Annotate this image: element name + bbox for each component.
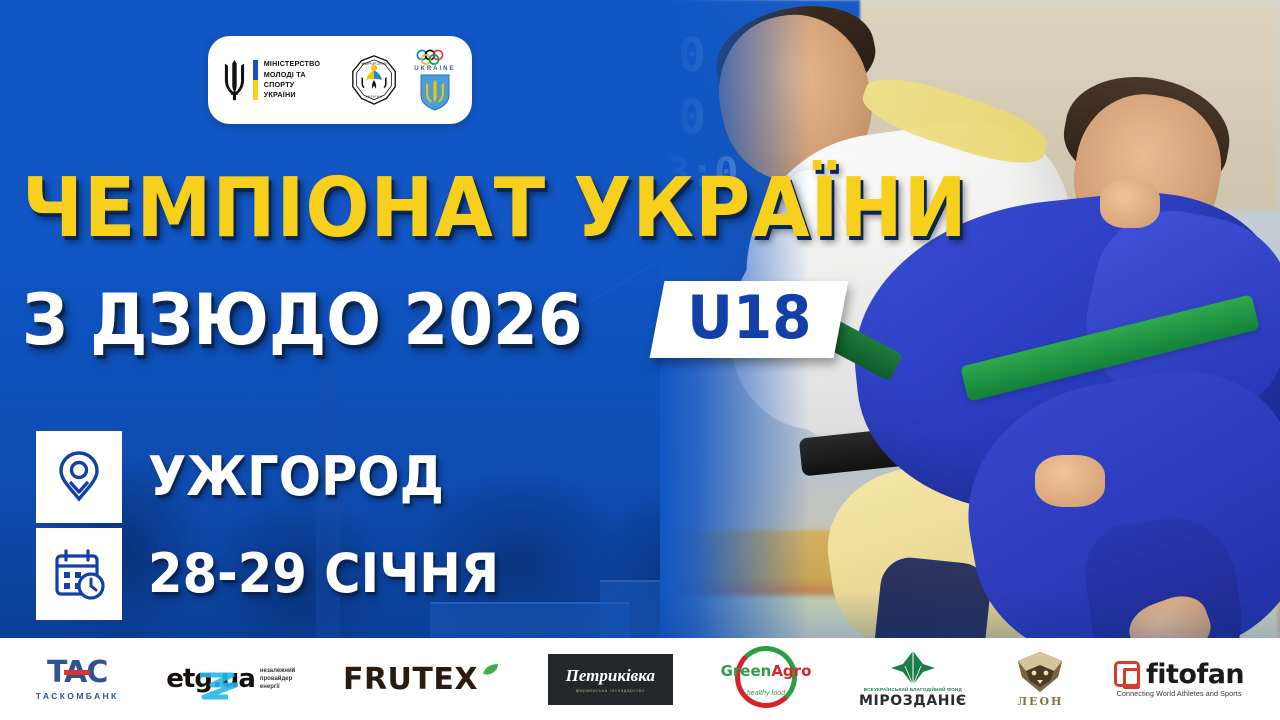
sponsor-petrykivka[interactable]: Петриківка фермерська господарство	[548, 649, 673, 709]
greenagro-wordmark: GreenAgro	[721, 662, 812, 680]
sponsor-leon[interactable]: ЛЕОН	[1014, 649, 1066, 709]
fitofan-wordmark: fitofan	[1146, 661, 1244, 688]
date-row: 28-29 СІЧНЯ	[36, 525, 530, 622]
sponsor-fitofan[interactable]: fitofan Connecting World Athletes and Sp…	[1114, 649, 1244, 709]
date-label: 28-29 СІЧНЯ	[148, 547, 499, 601]
age-category-badge: U18	[650, 281, 849, 358]
location-label: УЖГОРОД	[148, 450, 444, 504]
calendar-clock-icon	[51, 546, 107, 602]
page-title: ЧЕМПІОНАТ УКРАЇНИ	[22, 168, 968, 250]
leon-wordmark: ЛЕОН	[1017, 695, 1063, 708]
location-pin-icon	[51, 449, 107, 505]
ukraine-trident-icon	[222, 59, 247, 101]
federation-text-top: ФЕДЕРАЦІЯ ДЗЮДО	[361, 62, 387, 66]
sponsor-etg-ua[interactable]: etg.ua незалежний провайдер енергії	[166, 649, 295, 709]
ministry-name: МІНІСТЕРСТВО МОЛОДІ ТА СПОРТУ УКРАЇНИ	[264, 59, 336, 101]
ministry-line-1: МІНІСТЕРСТВО	[264, 59, 336, 69]
etg-wordmark: etg.ua	[166, 666, 255, 692]
event-details: УЖГОРОД 28-29 СІЧНЯ	[36, 428, 530, 622]
fitofan-logo-row: fitofan	[1114, 661, 1244, 688]
petrykivka-tagline: фермерська господарство	[576, 688, 645, 693]
green-leaf-icon	[480, 662, 500, 682]
ministry-line-2: МОЛОДІ ТА СПОРТУ	[264, 70, 336, 91]
federation-text-bottom: УКРАЇНИ	[365, 93, 382, 98]
tas-wordmark: TAC	[47, 658, 107, 688]
frutex-wordmark: FRUTEX	[343, 662, 478, 697]
location-row: УЖГОРОД	[36, 428, 530, 525]
noc-label: UKRAINE	[414, 66, 455, 72]
location-icon-box	[36, 431, 122, 523]
taskombank-name: ТАСКОМБАНК	[36, 691, 119, 701]
date-icon-box	[36, 528, 122, 620]
tas-accent-bar	[64, 670, 90, 675]
sponsor-greenagro[interactable]: GreenAgro healthy food	[721, 649, 812, 709]
noc-ukraine-logo: UKRAINE	[412, 47, 458, 113]
greenagro-word-2: Agro	[771, 662, 811, 680]
gripping-hand	[1100, 180, 1160, 228]
mirozdanie-wordmark: МІРОЗДАНІЄ	[859, 693, 967, 709]
greenagro-tagline: healthy food	[747, 690, 785, 697]
lion-head-icon	[1014, 651, 1066, 693]
gripping-hand	[1035, 455, 1105, 507]
etg-tagline-2: провайдер	[260, 675, 295, 683]
event-subtitle: З ДЗЮДО 2026	[22, 285, 583, 355]
sponsor-frutex[interactable]: FRUTEX	[343, 649, 500, 709]
etg-tagline: незалежний провайдер енергії	[260, 667, 295, 691]
fitofan-tagline: Connecting World Athletes and Sports	[1117, 689, 1242, 698]
sponsor-bar: TAC ТАСКОМБАНК etg.ua незалежний провайд…	[0, 638, 1280, 720]
olympic-rings-icon	[415, 49, 455, 65]
organizer-logos: МІНІСТЕРСТВО МОЛОДІ ТА СПОРТУ УКРАЇНИ ФЕ…	[208, 36, 472, 124]
greenagro-word-1: Green	[721, 662, 772, 680]
trident-shield-icon	[419, 73, 451, 111]
subtitle-row: З ДЗЮДО 2026 U18	[22, 281, 842, 358]
mirozdanie-tagline: ВСЕУКРАЇНСЬКИЙ БЛАГОДІЙНИЙ ФОНД	[864, 687, 962, 692]
etg-tagline-3: енергії	[260, 683, 295, 691]
ukraine-flag-bar	[253, 60, 258, 100]
ministry-line-3: УКРАЇНИ	[264, 90, 336, 100]
ministry-logo: МІНІСТЕРСТВО МОЛОДІ ТА СПОРТУ УКРАЇНИ	[222, 59, 336, 101]
petrykivka-wordmark: Петриківка	[566, 666, 655, 686]
judo-federation-emblem-icon: ФЕДЕРАЦІЯ ДЗЮДО УКРАЇНИ	[348, 53, 400, 107]
sponsor-taskombank[interactable]: TAC ТАСКОМБАНК	[36, 649, 119, 709]
etg-tagline-1: незалежний	[260, 667, 295, 675]
event-poster: 0 0 3:0	[0, 0, 1280, 720]
etg-z-icon	[198, 672, 238, 700]
sponsor-mirozdanie[interactable]: ВСЕУКРАЇНСЬКИЙ БЛАГОДІЙНИЙ ФОНД МІРОЗДАН…	[859, 649, 967, 709]
mirozdanie-emblem-icon	[890, 650, 936, 686]
age-category-label: U18	[688, 287, 812, 350]
fitofan-badge-icon	[1114, 661, 1140, 687]
